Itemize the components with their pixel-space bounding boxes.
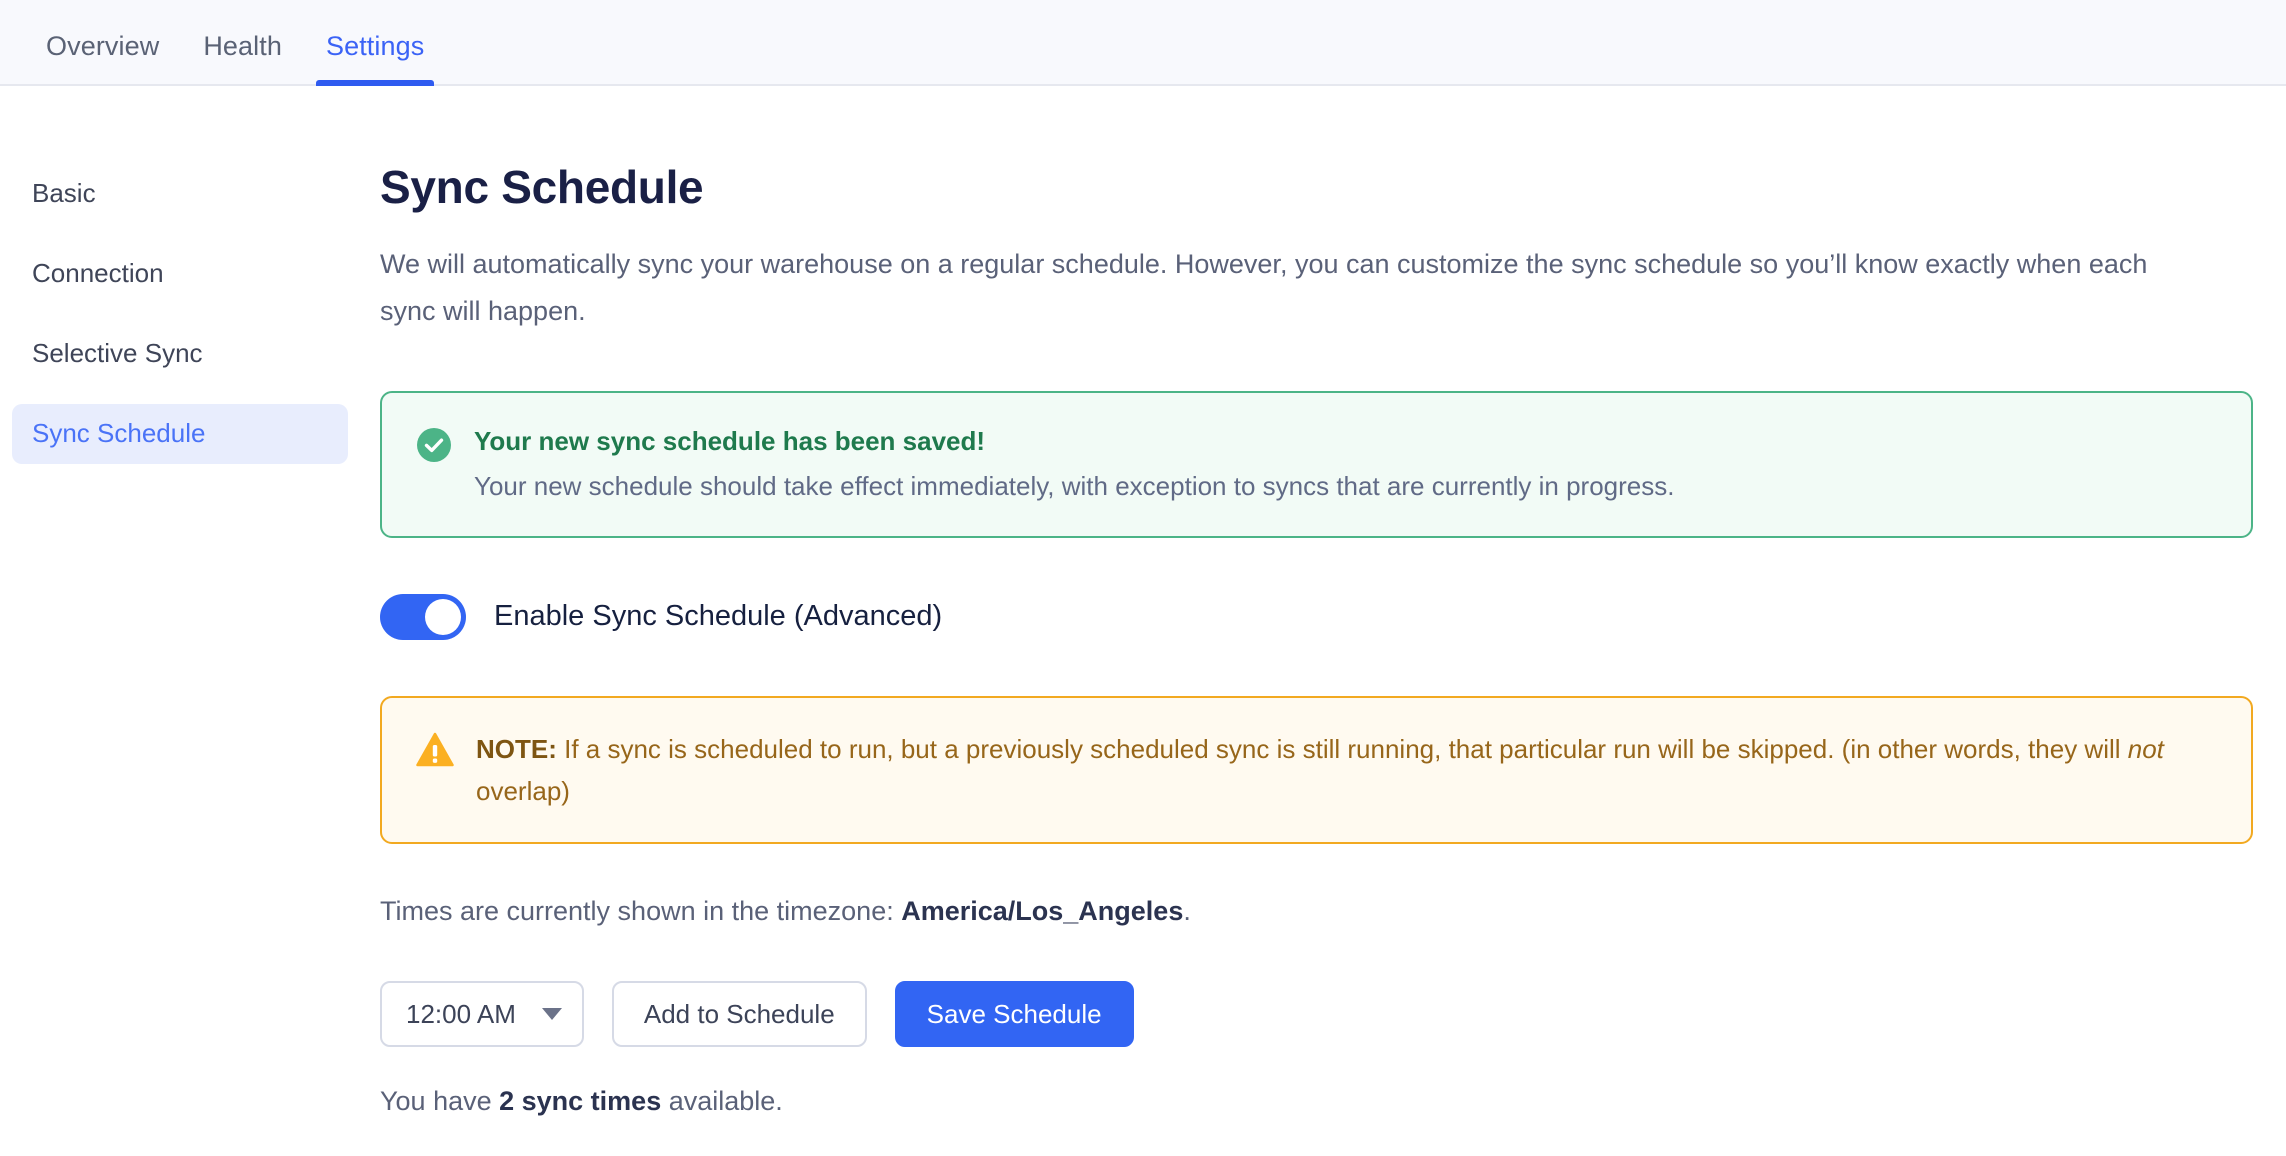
sidebar-item-connection-label: Connection bbox=[32, 258, 164, 288]
note-prefix: NOTE: bbox=[476, 734, 557, 764]
note-italic-word: not bbox=[2128, 734, 2164, 764]
available-suffix: available. bbox=[661, 1086, 783, 1116]
sidebar-item-sync-schedule-label: Sync Schedule bbox=[32, 418, 205, 448]
available-count: 2 sync times bbox=[499, 1086, 661, 1116]
sync-times-available-line: You have 2 sync times available. bbox=[380, 1085, 2253, 1117]
check-circle-icon bbox=[416, 427, 452, 468]
sidebar-item-selective-sync[interactable]: Selective Sync bbox=[12, 324, 348, 384]
settings-sidebar: Basic Connection Selective Sync Sync Sch… bbox=[0, 86, 380, 484]
main-content: Sync Schedule We will automatically sync… bbox=[380, 86, 2286, 1117]
tab-settings[interactable]: Settings bbox=[304, 33, 446, 84]
page-title: Sync Schedule bbox=[380, 162, 2253, 213]
page-description: We will automatically sync your warehous… bbox=[380, 241, 2210, 336]
enable-sync-schedule-label: Enable Sync Schedule (Advanced) bbox=[494, 601, 942, 633]
page-body: Basic Connection Selective Sync Sync Sch… bbox=[0, 86, 2286, 1117]
sidebar-item-basic-label: Basic bbox=[32, 178, 96, 208]
note-warning-text: NOTE: If a sync is scheduled to run, but… bbox=[476, 728, 2217, 812]
timezone-prefix: Times are currently shown in the timezon… bbox=[380, 896, 901, 926]
main-tab-bar: Overview Health Settings bbox=[0, 0, 2286, 86]
enable-sync-schedule-row: Enable Sync Schedule (Advanced) bbox=[380, 594, 2253, 640]
timezone-line: Times are currently shown in the timezon… bbox=[380, 894, 2253, 929]
tab-settings-label: Settings bbox=[326, 31, 424, 61]
note-text-before: If a sync is scheduled to run, but a pre… bbox=[557, 734, 2128, 764]
timezone-suffix: . bbox=[1183, 896, 1191, 926]
sidebar-item-sync-schedule[interactable]: Sync Schedule bbox=[12, 404, 348, 464]
enable-sync-schedule-toggle[interactable] bbox=[380, 594, 466, 640]
sidebar-item-selective-sync-label: Selective Sync bbox=[32, 338, 203, 368]
chevron-down-icon bbox=[542, 1008, 562, 1020]
timezone-value: America/Los_Angeles bbox=[901, 896, 1183, 926]
note-text-after: overlap) bbox=[476, 776, 570, 806]
sidebar-item-basic[interactable]: Basic bbox=[12, 164, 348, 224]
tab-health[interactable]: Health bbox=[181, 33, 304, 84]
toggle-knob bbox=[425, 599, 461, 635]
available-prefix: You have bbox=[380, 1086, 499, 1116]
warning-triangle-icon bbox=[416, 732, 454, 773]
tab-overview[interactable]: Overview bbox=[24, 33, 181, 84]
success-alert-banner: Your new sync schedule has been saved! Y… bbox=[380, 391, 2253, 538]
add-to-schedule-button[interactable]: Add to Schedule bbox=[612, 981, 867, 1047]
success-alert-body: Your new sync schedule has been saved! Y… bbox=[474, 423, 2217, 506]
note-warning-banner: NOTE: If a sync is scheduled to run, but… bbox=[380, 696, 2253, 844]
schedule-controls-row: 12:00 AM Add to Schedule Save Schedule bbox=[380, 981, 2253, 1047]
tab-overview-label: Overview bbox=[46, 31, 159, 61]
success-alert-subtitle: Your new schedule should take effect imm… bbox=[474, 467, 2217, 506]
tab-health-label: Health bbox=[203, 31, 282, 61]
time-select-value: 12:00 AM bbox=[406, 1001, 516, 1027]
save-schedule-button[interactable]: Save Schedule bbox=[895, 981, 1134, 1047]
save-schedule-label: Save Schedule bbox=[927, 1001, 1102, 1027]
add-to-schedule-label: Add to Schedule bbox=[644, 1001, 835, 1027]
time-select[interactable]: 12:00 AM bbox=[380, 981, 584, 1047]
sidebar-item-connection[interactable]: Connection bbox=[12, 244, 348, 304]
success-alert-title: Your new sync schedule has been saved! bbox=[474, 423, 2217, 461]
